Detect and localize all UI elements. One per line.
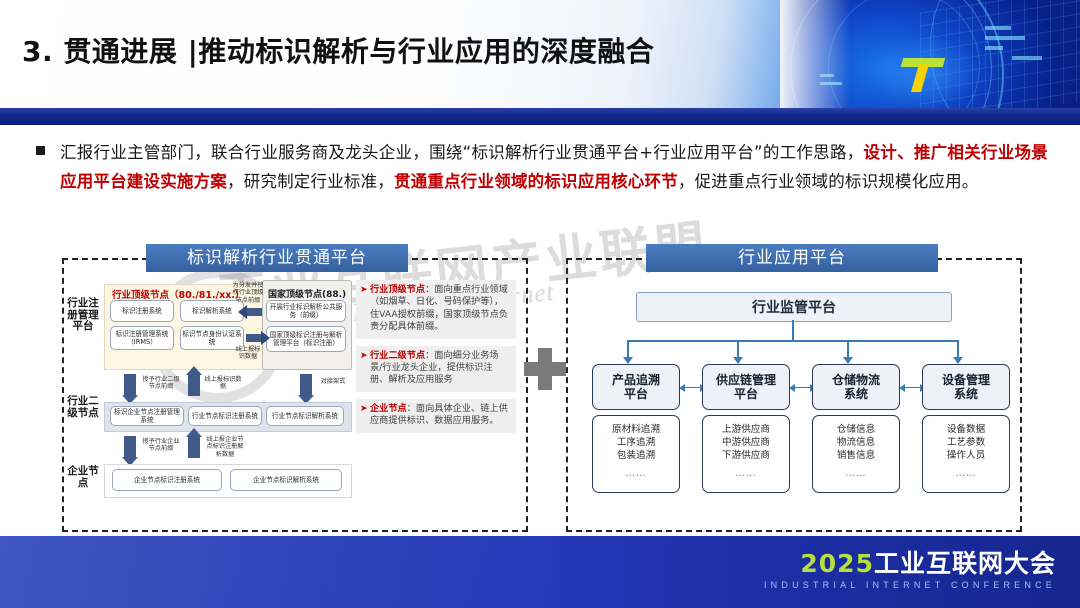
app-card-line: 供应链管理 xyxy=(716,373,776,388)
conference-logo: 2025工业互联网大会 INDUSTRIAL INTERNET CONFEREN… xyxy=(764,550,1056,590)
header-divider-bar xyxy=(0,108,1080,125)
row-label-enterprise: 企业节点 xyxy=(66,466,100,489)
tree-line xyxy=(627,340,629,358)
node-box: 国家顶级标识注册与解析管理平台（标识注册） xyxy=(266,326,346,352)
app-column: 供应链管理 平台 上游供应商 中游供应商 下游供应商 …… xyxy=(702,364,790,493)
node-box: 标识企业节点注册管理系统 xyxy=(110,406,184,426)
bullet-text-run: 汇报行业主管部门，联合行业服务商及龙头企业，围绕“标识解析行业贯通平台+行业应用… xyxy=(60,143,864,162)
tree-line xyxy=(792,320,794,340)
app-subitem: 原材料追溯 xyxy=(612,423,660,436)
bullet-marker-icon xyxy=(36,146,45,155)
t-logo-icon xyxy=(898,58,944,92)
app-card[interactable]: 设备管理 系统 xyxy=(922,364,1010,410)
right-panel-title: 行业应用平台 xyxy=(646,244,938,272)
node-box: 行业节点标识解析系统 xyxy=(266,406,344,426)
row-label-registry: 行业注册管理平台 xyxy=(66,298,100,333)
app-subitem-more: …… xyxy=(735,467,756,480)
bullet-emphasis-run: 贯通重点行业领域的标识应用核心环节 xyxy=(394,172,678,191)
app-subitem: 销售信息 xyxy=(837,449,875,462)
bullet-text-run: ，促进重点行业领域的标识规模化应用。 xyxy=(678,172,979,191)
diagram-area: 标识解析行业贯通平台 行业注册管理平台 行业二级节点 企业节点 行业顶级节点（8… xyxy=(0,236,1080,536)
tree-arrow xyxy=(733,357,743,364)
arrow-label: 线上报企业节点标识注册解析数据 xyxy=(204,436,246,458)
app-subitem: 下游供应商 xyxy=(722,449,770,462)
app-subitem-more: …… xyxy=(845,467,866,480)
note-bullet-icon: ➤ xyxy=(360,350,368,362)
tree-line xyxy=(737,340,739,358)
app-subitems: 上游供应商 中游供应商 下游供应商 …… xyxy=(702,415,790,493)
page-title: 3. 贯通进展 |推动标识解析与行业应用的深度融合 xyxy=(22,30,654,70)
conference-year: 2025 xyxy=(800,549,874,578)
artwork-fade xyxy=(780,0,850,114)
app-card-line: 平台 xyxy=(624,387,648,402)
conference-name-cn: 工业互联网大会 xyxy=(874,549,1056,578)
arrow-down xyxy=(124,374,136,396)
note-item: ➤ 行业顶级节点：面向重点行业领域（如烟草、日化、号码保护等），住VAA授权前缀… xyxy=(356,280,516,339)
note-bullet-icon: ➤ xyxy=(360,284,368,296)
node-box: 行业节点标识注册系统 xyxy=(188,406,262,426)
app-subitem: 仓储信息 xyxy=(837,423,875,436)
arrow-label: 线上报标识数据 xyxy=(204,376,242,391)
slide-header: 3. 贯通进展 |推动标识解析与行业应用的深度融合 xyxy=(0,0,1080,114)
note-title: 行业二级节点 xyxy=(370,350,425,361)
arrow-label: 线上报标识数据 xyxy=(234,346,262,361)
industry-top-node-header: 行业顶级节点（80./81./xx.） xyxy=(112,287,244,301)
app-subitem-more: …… xyxy=(625,467,646,480)
plus-connector-icon xyxy=(524,348,566,390)
app-subitem: 操作人员 xyxy=(947,449,985,462)
node-box: 标识注册管理系统（IRMS） xyxy=(110,326,174,350)
app-subitem: 设备数据 xyxy=(947,423,985,436)
note-title: 企业节点 xyxy=(370,403,407,414)
node-box: 企业节点标识解析系统 xyxy=(230,469,342,491)
note-bullet-icon: ➤ xyxy=(360,403,368,415)
app-card-line: 仓储物流 xyxy=(832,373,880,388)
decorative-chip xyxy=(1012,56,1042,60)
left-panel-title: 标识解析行业贯通平台 xyxy=(146,244,408,272)
node-box: 企业节点标识注册系统 xyxy=(112,469,222,491)
decorative-chip xyxy=(985,36,1025,40)
arrow-down xyxy=(124,436,136,458)
left-panel-notes: ➤ 行业顶级节点：面向重点行业领域（如烟草、日化、号码保护等），住VAA授权前缀… xyxy=(356,280,516,440)
app-subitems: 原材料追溯 工序追溯 包装追溯 …… xyxy=(592,415,680,493)
app-subitem-more: …… xyxy=(955,467,976,480)
arrow-down xyxy=(300,374,312,396)
tree-line xyxy=(847,340,849,358)
arrow-up xyxy=(188,436,200,458)
tree-arrow xyxy=(623,357,633,364)
app-subitems: 仓储信息 物流信息 销售信息 …… xyxy=(812,415,900,493)
arrow-label: 授予行业二级节点前缀 xyxy=(140,376,182,391)
note-item: ➤ 行业二级节点：面向细分业务场景/行业龙头企业，提供标识注册、解析及应用服务 xyxy=(356,346,516,392)
app-card[interactable]: 供应链管理 平台 xyxy=(702,364,790,410)
app-subitem: 工艺参数 xyxy=(947,436,985,449)
app-column: 设备管理 系统 设备数据 工艺参数 操作人员 …… xyxy=(922,364,1010,493)
app-column: 产品追溯 平台 原材料追溯 工序追溯 包装追溯 …… xyxy=(592,364,680,493)
note-item: ➤ 企业节点：面向具体企业、链上供应商提供标识、数据应用服务。 xyxy=(356,399,516,433)
decorative-chip xyxy=(985,26,1011,30)
app-card[interactable]: 产品追溯 平台 xyxy=(592,364,680,410)
tree-arrow xyxy=(953,357,963,364)
app-subitem: 物流信息 xyxy=(837,436,875,449)
app-card-line: 设备管理 xyxy=(942,373,990,388)
app-subitem: 上游供应商 xyxy=(722,423,770,436)
arrow-up xyxy=(188,374,200,396)
app-card[interactable]: 仓储物流 系统 xyxy=(812,364,900,410)
slide-footer: 2025工业互联网大会 INDUSTRIAL INTERNET CONFEREN… xyxy=(0,536,1080,608)
arrow-label: 为分发并授权行业顶级节点前缀 xyxy=(232,282,264,304)
arrow-left xyxy=(246,308,262,316)
arrow-right xyxy=(246,334,262,342)
bullet-paragraph: 汇报行业主管部门，联合行业服务商及龙头企业，围绕“标识解析行业贯通平台+行业应用… xyxy=(60,138,1048,196)
app-subitem: 工序追溯 xyxy=(617,436,655,449)
app-subitems: 设备数据 工艺参数 操作人员 …… xyxy=(922,415,1010,493)
app-column: 仓储物流 系统 仓储信息 物流信息 销售信息 …… xyxy=(812,364,900,493)
tree-line xyxy=(627,340,959,342)
node-box: 开展行业标识解析公共服务（前缀） xyxy=(266,300,346,322)
app-subitem: 包装追溯 xyxy=(617,449,655,462)
app-card-line: 平台 xyxy=(734,387,758,402)
app-card-line: 系统 xyxy=(844,387,868,402)
decorative-chip xyxy=(985,46,1003,50)
node-box: 标识注册系统 xyxy=(110,300,174,322)
app-card-line: 产品追溯 xyxy=(612,373,660,388)
tree-line xyxy=(957,340,959,358)
tree-arrow xyxy=(843,357,853,364)
arrow-label: 对接架式 xyxy=(316,378,350,385)
bullet-text-run: ，研究制定行业标准， xyxy=(227,172,394,191)
note-title: 行业顶级节点 xyxy=(370,284,425,295)
header-tech-artwork xyxy=(780,0,1080,114)
row-label-tier2: 行业二级节点 xyxy=(66,396,100,419)
industry-supervision-platform: 行业监管平台 xyxy=(636,292,952,322)
conference-name-en: INDUSTRIAL INTERNET CONFERENCE xyxy=(764,580,1056,590)
app-card-line: 系统 xyxy=(954,387,978,402)
app-subitem: 中游供应商 xyxy=(722,436,770,449)
national-top-node-header: 国家顶级节点(88.) xyxy=(268,287,346,300)
arrow-label: 授予行业企业节点前缀 xyxy=(140,438,182,453)
bullet-block: 汇报行业主管部门，联合行业服务商及龙头企业，围绕“标识解析行业贯通平台+行业应用… xyxy=(36,138,1048,196)
